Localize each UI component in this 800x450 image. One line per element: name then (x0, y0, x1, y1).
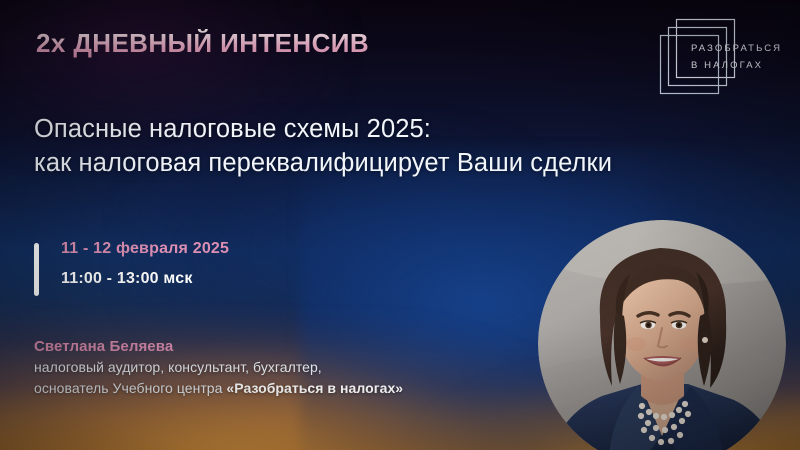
speaker-role-line-1: налоговый аудитор, консультант, бухгалте… (34, 357, 554, 378)
title-line-1: Опасные налоговые схемы 2025: (34, 112, 774, 146)
banner-title: Опасные налоговые схемы 2025: как налого… (34, 112, 774, 180)
brand-logo[interactable]: РАЗОБРАТЬСЯ В НАЛОГАХ (648, 14, 788, 96)
speaker-block: Светлана Беляева налоговый аудитор, конс… (34, 336, 554, 399)
speaker-role-prefix: основатель Учебного центра (34, 380, 226, 396)
logo-line-1: РАЗОБРАТЬСЯ (691, 40, 782, 57)
webinar-promo-banner: 2х ДНЕВНЫЙ ИНТЕНСИВ РАЗОБРАТЬСЯ В НАЛОГА… (0, 0, 800, 450)
speaker-role-line-2: основатель Учебного центра «Разобраться … (34, 378, 554, 399)
speaker-center-name: «Разобраться в налогах» (226, 380, 403, 396)
kicker-label: 2х ДНЕВНЫЙ ИНТЕНСИВ (36, 29, 369, 58)
accent-bar (34, 243, 39, 296)
event-date: 11 - 12 февраля 2025 (61, 240, 229, 258)
title-line-2: как налоговая переквалифицирует Ваши сде… (34, 146, 774, 180)
logo-wordmark: РАЗОБРАТЬСЯ В НАЛОГАХ (691, 40, 782, 74)
speaker-portrait (538, 220, 786, 450)
speaker-photo (538, 220, 786, 450)
logo-line-2: В НАЛОГАХ (691, 57, 782, 74)
event-time: 11:00 - 13:00 мск (61, 270, 193, 288)
speaker-name: Светлана Беляева (34, 336, 554, 357)
